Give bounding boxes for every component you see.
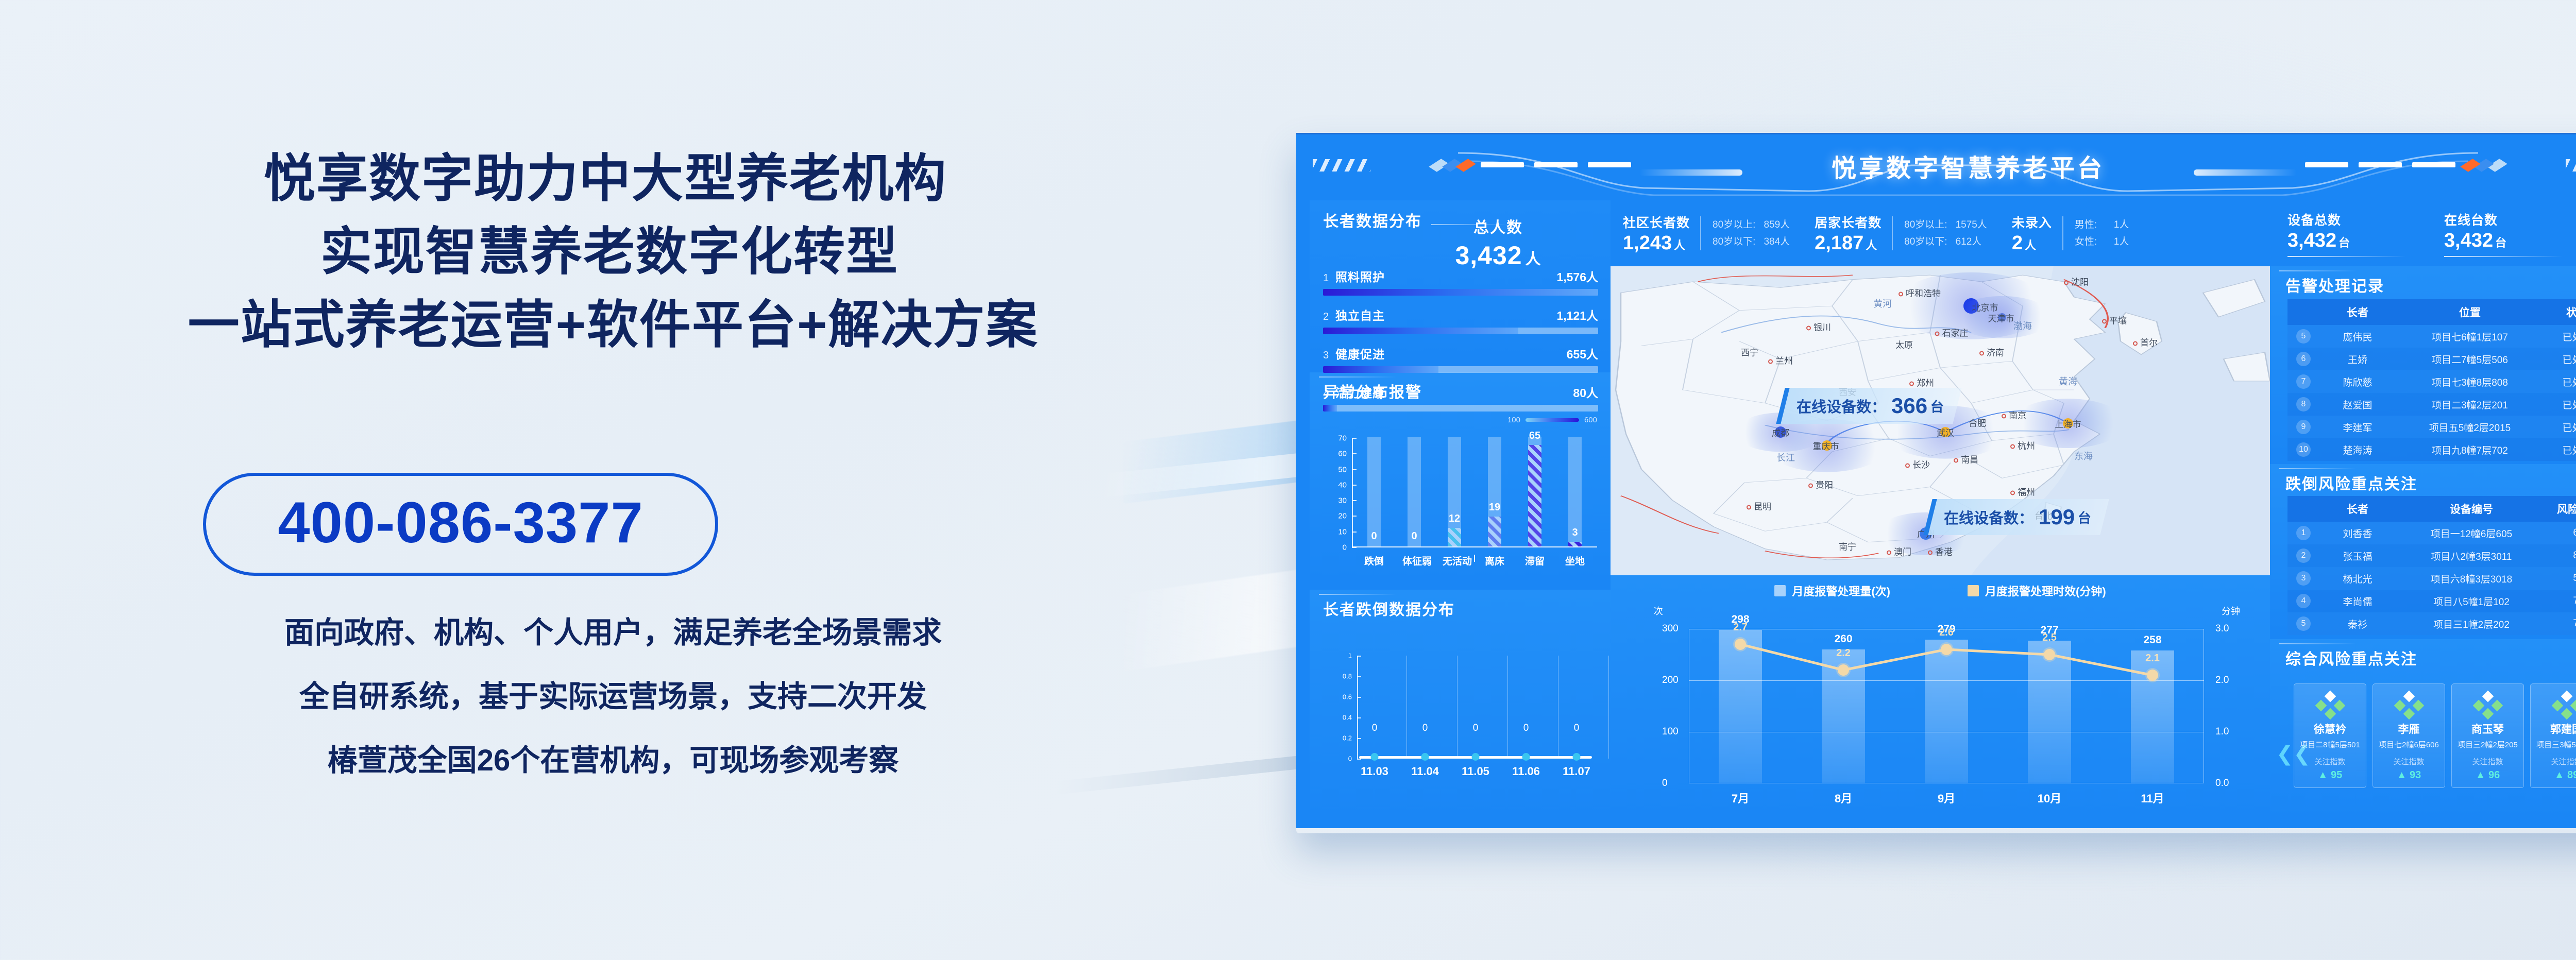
anomaly-legend-gradient-icon xyxy=(1526,418,1579,422)
row-index-badge: 3 xyxy=(2296,571,2311,586)
callout-1-unit: 台 xyxy=(1930,397,1944,416)
kpi-sub-key: 男性: xyxy=(2075,216,2106,233)
bullet-1: 面向政府、机构、个人用户，满足养老全场景需求 xyxy=(0,618,1226,648)
device-stat-label: 设备总数 xyxy=(2287,210,2406,229)
monthly-alarm-chart: 月度报警处理量(次) 月度报警处理时效(分钟) 次 分钟 0100200300 … xyxy=(1611,575,2270,824)
table-cell-status: 已处理 xyxy=(2544,352,2576,366)
map-city-label[interactable]: 福州 xyxy=(2010,485,2035,498)
row-index-badge: 5 xyxy=(2296,616,2311,631)
table-cell-device: 项目一12幢6层605 xyxy=(2396,526,2547,540)
kpi-row: 社区长者数1,243人80岁以上:859人80岁以下:384人居家长者数2,18… xyxy=(1611,200,2270,266)
elder-total-value: 3,432人 xyxy=(1400,241,1596,270)
map-geo-label: 长江 xyxy=(1776,451,1795,464)
row-index-badge: 6 xyxy=(2296,352,2311,366)
map-city-label[interactable]: 南京 xyxy=(2002,408,2026,421)
fall-risk-table[interactable]: 长者设备编号风险指数1刘香香项目一12幢6层605672张玉福项目八2幢3层30… xyxy=(2287,496,2576,635)
alarm-records-title: 告警处理记录 xyxy=(2270,266,2576,276)
table-cell-device: 项目八5幢1层102 xyxy=(2396,594,2547,608)
row-bar-track xyxy=(1323,328,1598,334)
map-callout-2: 在线设备数： 199 台 xyxy=(1923,499,2109,535)
row-value: 655人 xyxy=(1567,345,1598,362)
table-row[interactable]: 7陈欣慈项目七3幢8层808已处理 xyxy=(2287,370,2576,393)
headline-line-1: 悦享数字助力中大型养老机构 xyxy=(0,142,1226,215)
fall-y-tick: 0 xyxy=(1348,755,1352,763)
card-index-label: 关注指数 xyxy=(2375,756,2443,767)
bullet-2: 全自研系统，基于实际运营场景，支持二次开发 xyxy=(0,682,1226,712)
anomaly-x-axis xyxy=(1352,546,1597,547)
fall-x-label: 11.04 xyxy=(1411,765,1439,778)
map-city-label[interactable]: 济南 xyxy=(1979,346,2004,358)
row-bar-fill xyxy=(1323,328,1518,334)
monthly-line-point[interactable] xyxy=(1941,644,1952,655)
monthly-left-tick: 100 xyxy=(1662,726,1679,738)
legend-swatch-duration-icon xyxy=(1968,585,1979,596)
table-cell-name: 秦衫 xyxy=(2319,617,2396,631)
row-index-badge: 7 xyxy=(2296,374,2311,389)
card-location: 项目三2幢2层205 xyxy=(2454,739,2521,750)
kpi-subvalues: 80岁以上:859人80岁以下:384人 xyxy=(1700,216,1790,251)
monthly-x-label: 11月 xyxy=(2141,790,2164,806)
map-callout-1: 在线设备数： 366 台 xyxy=(1776,388,1962,424)
table-cell-status: 已处理 xyxy=(2544,375,2576,389)
elder-distribution-row: 1照料照护1,576人 xyxy=(1323,267,1598,296)
table-cell-index: 10 xyxy=(2287,442,2319,457)
table-cell-name: 王娇 xyxy=(2319,352,2396,366)
map-city-label[interactable]: 郑州 xyxy=(1909,375,1934,388)
table-cell-name: 赵爱国 xyxy=(2319,398,2396,412)
overall-risk-card[interactable]: 商玉琴项目三2幢2层205关注指数▲ 96 xyxy=(2451,683,2524,788)
anomaly-bar-fill xyxy=(1568,542,1582,546)
row-label: 照料照护 xyxy=(1335,267,1385,285)
anomaly-legend: 100 600 xyxy=(1507,416,1597,424)
map-geo-label: 渤海 xyxy=(2013,319,2032,332)
fall-x-label: 11.03 xyxy=(1361,765,1388,778)
map-geo-label: 黄河 xyxy=(1873,297,1892,310)
table-row[interactable]: 9李建军项目五5幢2层2015已处理 xyxy=(2287,416,2576,438)
table-cell-name: 杨北光 xyxy=(2319,572,2396,586)
fall-y-tick: 0.2 xyxy=(1343,734,1352,742)
anomaly-x-label: 滞留 xyxy=(1523,554,1547,568)
phone-number: 400-086-3377 xyxy=(278,489,643,556)
fall-risk-title: 跌倒风险重点关注 xyxy=(2270,464,2576,473)
kpi-sub-key: 80岁以下: xyxy=(1904,233,1947,250)
callout-2-value: 199 xyxy=(2039,505,2075,529)
monthly-line-value: 2.1 xyxy=(2145,653,2160,664)
table-row[interactable]: 8赵爱国项目二3幢2层201已处理 xyxy=(2287,393,2576,416)
row-index-badge: 1 xyxy=(2296,526,2311,540)
fall-gridline xyxy=(1558,656,1558,759)
anomaly-bar-value: 12 xyxy=(1436,513,1472,525)
table-cell-device: 项目八2幢3层3011 xyxy=(2396,549,2547,563)
table-header-cell: 风险指数 xyxy=(2547,501,2576,517)
device-stat-rule xyxy=(2287,256,2406,257)
anomaly-bar-fill xyxy=(1488,517,1501,546)
card-index-label: 关注指数 xyxy=(2533,756,2576,767)
callout-1-label: 在线设备数： xyxy=(1797,395,1886,417)
anomaly-x-label: 无活动 xyxy=(1443,554,1466,568)
table-row[interactable]: 6王娇项目二7幢5层506已处理 xyxy=(2287,348,2576,370)
monthly-line-value: 2.2 xyxy=(1836,647,1851,659)
row-value: 1,121人 xyxy=(1556,306,1598,323)
monthly-line-value: 2.6 xyxy=(1939,627,1954,639)
card-index-value: ▲ 93 xyxy=(2375,769,2443,781)
anomaly-x-labels: 跌倒体征弱无活动离床滞留坐地 xyxy=(1354,554,1595,568)
fall-y-tick-mark xyxy=(1357,676,1361,677)
anomaly-bar-value: 0 xyxy=(1356,530,1392,542)
table-cell-location: 项目九8幢7层702 xyxy=(2396,443,2544,457)
row-index-badge: 10 xyxy=(2296,442,2311,457)
kpi-sub-value: 612人 xyxy=(1956,233,1982,250)
kpi-value: 1,243人 xyxy=(1623,232,1690,254)
monthly-right-tick: 3.0 xyxy=(2215,623,2229,635)
kpi-card: 社区长者数1,243人80岁以上:859人80岁以下:384人 xyxy=(1611,209,1802,258)
fall-x-label: 11.06 xyxy=(1512,765,1540,778)
kpi-sub-value: 1575人 xyxy=(1956,216,1987,233)
table-cell-name: 楚海涛 xyxy=(2319,443,2396,457)
map-city-label[interactable]: 上海市 xyxy=(2055,417,2081,430)
anomaly-y-tick: 20 xyxy=(1338,512,1347,521)
overall-risk-card[interactable]: 徐慧衿项目二8幢5层501关注指数▲ 95 xyxy=(2294,683,2366,788)
fall-data-point[interactable] xyxy=(1472,753,1480,761)
anomaly-y-tick: 50 xyxy=(1338,465,1347,474)
table-cell-index: 6 xyxy=(2287,352,2319,366)
fall-y-tick-mark xyxy=(1357,717,1361,718)
anomaly-bar-value: 65 xyxy=(1517,430,1553,442)
anomaly-y-tick: 0 xyxy=(1343,543,1347,552)
monthly-line-point[interactable] xyxy=(2147,670,2158,681)
table-row[interactable]: 5秦衫项目三1幢2层20278 xyxy=(2287,612,2576,635)
kpi-card: 居家长者数2,187人80岁以上:1575人80岁以下:612人 xyxy=(1802,209,1999,258)
fall-data-point[interactable] xyxy=(1371,753,1379,761)
map-city-label[interactable]: 南昌 xyxy=(1954,452,1978,465)
callout-2-label: 在线设备数： xyxy=(1944,506,2033,528)
monthly-right-tick: 2.0 xyxy=(2215,675,2229,686)
table-cell-index: 8 xyxy=(2287,397,2319,412)
table-row[interactable]: 10楚海涛项目九8幢7层702已处理 xyxy=(2287,438,2576,461)
table-cell-name: 张玉福 xyxy=(2319,549,2396,563)
kpi-sub-key: 80岁以上: xyxy=(1713,216,1755,233)
kpi-sub-value: 1人 xyxy=(2114,216,2129,233)
fall-risk-panel: 跌倒风险重点关注 长者设备编号风险指数1刘香香项目一12幢6层605672张玉福… xyxy=(2270,464,2576,637)
anomaly-bar-fill xyxy=(1367,545,1381,546)
map-city-label[interactable]: 合肥 xyxy=(1969,416,1986,429)
anomaly-x-label: 跌倒 xyxy=(1362,554,1386,568)
anomaly-bar-cell[interactable]: 0 xyxy=(1362,437,1386,546)
card-location: 项目三3幢5层502 xyxy=(2533,739,2576,750)
anomaly-legend-max: 600 xyxy=(1584,416,1597,424)
anomaly-bar-cell[interactable]: 0 xyxy=(1402,437,1426,546)
card-location: 项目七2幢6层606 xyxy=(2375,739,2443,750)
card-location: 项目二8幢5层501 xyxy=(2296,739,2364,750)
monthly-left-tick: 300 xyxy=(1662,623,1679,635)
row-bar-track xyxy=(1323,289,1598,296)
monthly-plot: 次 分钟 0100200300 0.01.02.03.0 2987月2608月2… xyxy=(1689,629,2204,783)
anomaly-x-label: 离床 xyxy=(1483,554,1506,568)
table-cell-index: 4 xyxy=(2287,594,2319,608)
fall-data-point[interactable] xyxy=(1522,753,1530,761)
monthly-x-label: 7月 xyxy=(1732,790,1749,806)
map-city-label[interactable]: 兰州 xyxy=(1768,353,1793,366)
kpi-subvalues: 80岁以上:1575人80岁以下:612人 xyxy=(1892,216,1987,251)
fall-data-label: 0 xyxy=(1422,723,1428,734)
map-city-label[interactable]: 昆明 xyxy=(1747,500,1771,512)
fall-y-tick: 0.8 xyxy=(1343,673,1352,680)
table-cell-risk: 76 xyxy=(2547,595,2576,607)
table-cell-risk: 78 xyxy=(2547,618,2576,629)
bullet-list: 面向政府、机构、个人用户，满足养老全场景需求 全自研系统，基于实际运营场景，支持… xyxy=(0,618,1226,810)
map-city-label[interactable]: 天津市 xyxy=(1988,312,2014,324)
row-index: 2 xyxy=(1323,311,1335,323)
anomaly-y-axis: 010203040506070 xyxy=(1325,438,1352,547)
table-row[interactable]: 2张玉福项目八2幢3层301188 xyxy=(2287,544,2576,567)
map-city-label[interactable]: 武汉 xyxy=(1937,426,1954,439)
anomaly-x-label: 体征弱 xyxy=(1402,554,1426,568)
fall-x-label: 11.07 xyxy=(1563,765,1590,778)
table-cell-index: 9 xyxy=(2287,420,2319,434)
table-row[interactable]: 3杨北光项目六8幢3层301852 xyxy=(2287,567,2576,590)
legend-label-duration: 月度报警处理时效(分钟) xyxy=(1985,582,2106,599)
diamond-cluster-icon xyxy=(2296,691,2364,719)
kpi-sub-key: 80岁以下: xyxy=(1713,233,1755,250)
fall-y-tick-mark xyxy=(1357,738,1361,739)
table-cell-location: 项目七6幢1层107 xyxy=(2396,330,2544,344)
elder-total-label: 总人数 xyxy=(1400,215,1596,237)
monthly-line-point[interactable] xyxy=(2044,649,2055,660)
anomaly-bar-value: 19 xyxy=(1477,502,1513,513)
card-index-label: 关注指数 xyxy=(2296,756,2364,767)
anomaly-bar-cell[interactable]: 3 xyxy=(1563,437,1587,546)
table-cell-index: 5 xyxy=(2287,616,2319,631)
card-elder-name: 郭建国 xyxy=(2533,721,2576,736)
table-cell-name: 李尚儒 xyxy=(2319,594,2396,608)
fall-plot: 00.20.40.60.81 011.03011.04011.05011.060… xyxy=(1359,656,1592,759)
table-cell-device: 项目三1幢2层202 xyxy=(2396,617,2547,631)
map-city-label[interactable]: 南宁 xyxy=(1839,540,1856,553)
anomaly-x-label: 坐地 xyxy=(1563,554,1587,568)
kpi-sub-key: 女性: xyxy=(2075,233,2106,250)
diamond-cluster-icon xyxy=(2533,691,2576,719)
anomaly-bar-cell[interactable]: 65 xyxy=(1523,437,1547,546)
anomaly-legend-min: 100 xyxy=(1507,416,1520,424)
kpi-value: 2人 xyxy=(2012,232,2052,254)
alarm-records-panel: 告警处理记录 长者位置状态5庞伟民项目七6幢1层107已处理6王娇项目二7幢5层… xyxy=(2270,266,2576,462)
map-city-label[interactable]: 呼和浩特 xyxy=(1899,286,1941,299)
monthly-line-value: 2.7 xyxy=(1733,622,1748,633)
row-index-badge: 8 xyxy=(2296,397,2311,412)
card-index-value: ▲ 95 xyxy=(2296,769,2364,781)
monthly-right-tick: 0.0 xyxy=(2215,778,2229,789)
fall-x-label: 11.05 xyxy=(1462,765,1489,778)
monthly-legend: 月度报警处理量(次) 月度报警处理时效(分钟) xyxy=(1611,582,2270,599)
monthly-legend-bars[interactable]: 月度报警处理量(次) xyxy=(1774,582,1890,599)
fall-data-label: 0 xyxy=(1473,723,1479,734)
device-stat-value: 3,432台 xyxy=(2444,230,2563,252)
monthly-line-point[interactable] xyxy=(1838,664,1849,676)
anomaly-bar-value: 0 xyxy=(1396,530,1432,542)
anomaly-y-tick: 70 xyxy=(1338,434,1347,443)
device-stat-value: 3,432台 xyxy=(2287,230,2406,252)
monthly-line-value: 2.5 xyxy=(2042,632,2057,644)
monthly-x-label: 9月 xyxy=(1938,790,1955,806)
device-stat: 在线台数3,432台 xyxy=(2444,210,2563,257)
monthly-left-tick: 200 xyxy=(1662,675,1679,686)
anomaly-bar-fill xyxy=(1408,545,1421,546)
device-stat-label: 在线台数 xyxy=(2444,210,2563,229)
row-value: 1,576人 xyxy=(1556,267,1598,285)
table-row[interactable]: 5庞伟民项目七6幢1层107已处理 xyxy=(2287,325,2576,348)
anomaly-bar-value: 3 xyxy=(1557,527,1593,539)
row-index-badge: 5 xyxy=(2296,329,2311,344)
map-city-label[interactable]: 澳门 xyxy=(1887,544,1911,557)
anomaly-y-tick: 60 xyxy=(1338,450,1347,458)
fall-distribution-title: 长者跌倒数据分布 xyxy=(1310,590,1611,599)
row-label: 独立自主 xyxy=(1335,306,1385,323)
map-city-label[interactable]: 杭州 xyxy=(2010,439,2035,452)
anomaly-bar-cell[interactable]: 19 xyxy=(1483,437,1506,546)
bullet-3: 椿萱茂全国26个在营机构，可现场参观考察 xyxy=(0,746,1226,776)
legend-label-volume: 月度报警处理量(次) xyxy=(1792,582,1890,599)
table-cell-index: 7 xyxy=(2287,374,2319,389)
table-cell-location: 项目二7幢5层506 xyxy=(2396,352,2544,366)
device-stat-rule xyxy=(2444,256,2563,257)
table-header-cell: 设备编号 xyxy=(2396,501,2547,517)
monthly-line-point[interactable] xyxy=(1735,639,1746,650)
row-index-badge: 2 xyxy=(2296,548,2311,563)
map-city-label[interactable]: 香港 xyxy=(1928,544,1953,557)
fall-gridline xyxy=(1457,656,1458,759)
table-cell-index: 5 xyxy=(2287,329,2319,344)
map-city-label[interactable]: 首尔 xyxy=(2133,336,2158,349)
monthly-left-tick: 0 xyxy=(1662,778,1668,789)
card-elder-name: 李雁 xyxy=(2375,721,2443,736)
legend-swatch-volume-icon xyxy=(1774,585,1786,596)
kpi-label: 社区长者数 xyxy=(1623,213,1690,231)
card-elder-name: 徐慧衿 xyxy=(2296,721,2364,736)
dashboard-center-column: 社区长者数1,243人80岁以上:859人80岁以下:384人居家长者数2,18… xyxy=(1611,200,2270,824)
callout-1-value: 366 xyxy=(1891,393,1927,418)
table-row[interactable]: 1刘香香项目一12幢6层60567 xyxy=(2287,522,2576,544)
fall-y-tick-mark xyxy=(1357,759,1361,760)
fall-gridline xyxy=(1507,656,1508,759)
row-bar-fill xyxy=(1323,289,1598,296)
elder-total: 总人数 3,432人 xyxy=(1400,215,1596,270)
monthly-left-unit: 次 xyxy=(1654,604,1663,618)
device-stat: 设备总数3,432台 xyxy=(2287,210,2406,257)
table-cell-device: 项目六8幢3层3018 xyxy=(2396,572,2547,586)
row-label: 健康促进 xyxy=(1335,345,1385,362)
card-index-value: ▲ 89 xyxy=(2533,769,2576,781)
overall-risk-title: 综合风险重点关注 xyxy=(2270,639,2576,648)
map-city-label[interactable]: 西宁 xyxy=(1741,346,1758,358)
overall-risk-panel: 综合风险重点关注 ❮❮ ❯❯ 徐慧衿项目二8幢5层501关注指数▲ 95李雁项目… xyxy=(2270,639,2576,824)
dashboard-screen: 悦享数字智慧养老平台 长者数据分布 总人数 3,432人 1照料照护1,576人… xyxy=(1296,133,2576,828)
china-map[interactable]: 沈阳呼和浩特北京市天津市石家庄太原银川济南西宁兰州郑州西安合肥南京上海市武汉成都… xyxy=(1611,266,2270,575)
overall-risk-cards: 徐慧衿项目二8幢5层501关注指数▲ 95李雁项目七2幢6层606关注指数▲ 9… xyxy=(2294,683,2576,788)
overall-risk-card[interactable]: 郭建国项目三3幢5层502关注指数▲ 89 xyxy=(2530,683,2576,788)
table-cell-location: 项目五5幢2层2015 xyxy=(2396,420,2544,434)
fall-data-label: 0 xyxy=(1574,723,1580,734)
table-header-row: 长者设备编号风险指数 xyxy=(2287,496,2576,522)
headline-block: 悦享数字助力中大型养老机构 实现智慧养老数字化转型 一站式养老运营+软件平台+解… xyxy=(0,142,1226,362)
table-cell-index: 2 xyxy=(2287,548,2319,563)
elder-distribution-row: 3健康促进655人 xyxy=(1323,345,1598,373)
anomaly-alarm-title: 异常分布报警 xyxy=(1310,372,1611,382)
monthly-x-label: 8月 xyxy=(1835,790,1852,806)
table-cell-status: 已处理 xyxy=(2544,398,2576,412)
anomaly-plot: 010203040506070 001219653 跌倒体征弱无活动离床滞留坐地 xyxy=(1354,438,1595,547)
marketing-column: 悦享数字助力中大型养老机构 实现智慧养老数字化转型 一站式养老运营+软件平台+解… xyxy=(0,0,1252,960)
diamond-cluster-icon xyxy=(2375,691,2443,719)
table-cell-risk: 88 xyxy=(2547,550,2576,561)
table-cell-status: 已处理 xyxy=(2544,420,2576,434)
table-header-cell: 状态 xyxy=(2544,304,2576,320)
fall-data-point[interactable] xyxy=(1573,753,1581,761)
table-header-cell: 位置 xyxy=(2396,304,2544,320)
dashboard-header: 悦享数字智慧养老平台 xyxy=(1310,141,2576,200)
kpi-sub-value: 384人 xyxy=(1764,233,1790,250)
map-city-label[interactable]: 长沙 xyxy=(1905,458,1930,471)
map-city-label[interactable]: 太原 xyxy=(1895,337,1913,350)
table-cell-name: 刘香香 xyxy=(2319,526,2396,540)
table-cell-index: 3 xyxy=(2287,571,2319,586)
diamond-cluster-icon xyxy=(2454,691,2521,719)
table-cell-index: 1 xyxy=(2287,526,2319,540)
monthly-legend-line[interactable]: 月度报警处理时效(分钟) xyxy=(1968,582,2106,599)
anomaly-bar-cell[interactable]: 12 xyxy=(1443,437,1466,546)
map-city-label[interactable]: 沈阳 xyxy=(2064,275,2089,288)
dashboard-title: 悦享数字智慧养老平台 xyxy=(1310,148,2576,184)
dashboard-right-column: 设备总数3,432台在线台数3,432台 告警处理记录 长者位置状态5庞伟民项目… xyxy=(2270,200,2576,824)
phone-cta-pill[interactable]: 400-086-3377 xyxy=(203,473,718,576)
map-city-label[interactable]: 贵阳 xyxy=(1808,478,1833,491)
anomaly-y-tick: 30 xyxy=(1338,496,1347,505)
anomaly-bar-fill xyxy=(1528,445,1541,546)
card-elder-name: 商玉琴 xyxy=(2454,721,2521,736)
table-cell-risk: 52 xyxy=(2547,573,2576,584)
fall-y-tick-mark xyxy=(1357,697,1361,698)
map-city-label[interactable]: 平壤 xyxy=(2102,313,2127,326)
table-header-cell: 长者 xyxy=(2319,501,2396,517)
fall-gridline xyxy=(1608,656,1609,759)
headline-line-3: 一站式养老运营+软件平台+解决方案 xyxy=(0,288,1226,362)
table-cell-location: 项目二3幢2层201 xyxy=(2396,398,2544,412)
map-geo-label: 东海 xyxy=(2074,449,2093,462)
row-index: 3 xyxy=(1323,350,1335,362)
map-city-label[interactable]: 石家庄 xyxy=(1935,325,1969,338)
row-index: 1 xyxy=(1323,272,1335,284)
fall-y-axis: 00.20.40.60.81 xyxy=(1331,656,1357,759)
alarm-records-table[interactable]: 长者位置状态5庞伟民项目七6幢1层107已处理6王娇项目二7幢5层506已处理7… xyxy=(2287,299,2576,461)
map-city-label[interactable]: 重庆市 xyxy=(1813,439,1839,452)
fall-data-point[interactable] xyxy=(1421,753,1429,761)
table-cell-name: 陈欣慈 xyxy=(2319,375,2396,389)
map-city-label[interactable]: 成都 xyxy=(1772,426,1789,439)
map-city-label[interactable]: 银川 xyxy=(1806,320,1831,333)
table-row[interactable]: 4李尚儒项目八5幢1层10276 xyxy=(2287,590,2576,612)
fall-y-tick: 1 xyxy=(1348,652,1352,660)
anomaly-y-tick: 10 xyxy=(1338,527,1347,536)
row-index-badge: 4 xyxy=(2296,594,2311,608)
fall-y-tick-mark xyxy=(1357,656,1361,657)
kpi-label: 未录入 xyxy=(2012,213,2052,231)
table-cell-status: 已处理 xyxy=(2544,443,2576,457)
callout-2-unit: 台 xyxy=(2078,508,2091,527)
row-index-badge: 9 xyxy=(2296,420,2311,434)
overall-risk-card[interactable]: 李雁项目七2幢6层606关注指数▲ 93 xyxy=(2372,683,2445,788)
map-geo-label: 黄海 xyxy=(2059,374,2077,388)
dashboard-left-column: 长者数据分布 总人数 3,432人 1照料照护1,576人2独立自主1,121人… xyxy=(1310,200,1611,824)
anomaly-bar-fill xyxy=(1448,528,1461,546)
